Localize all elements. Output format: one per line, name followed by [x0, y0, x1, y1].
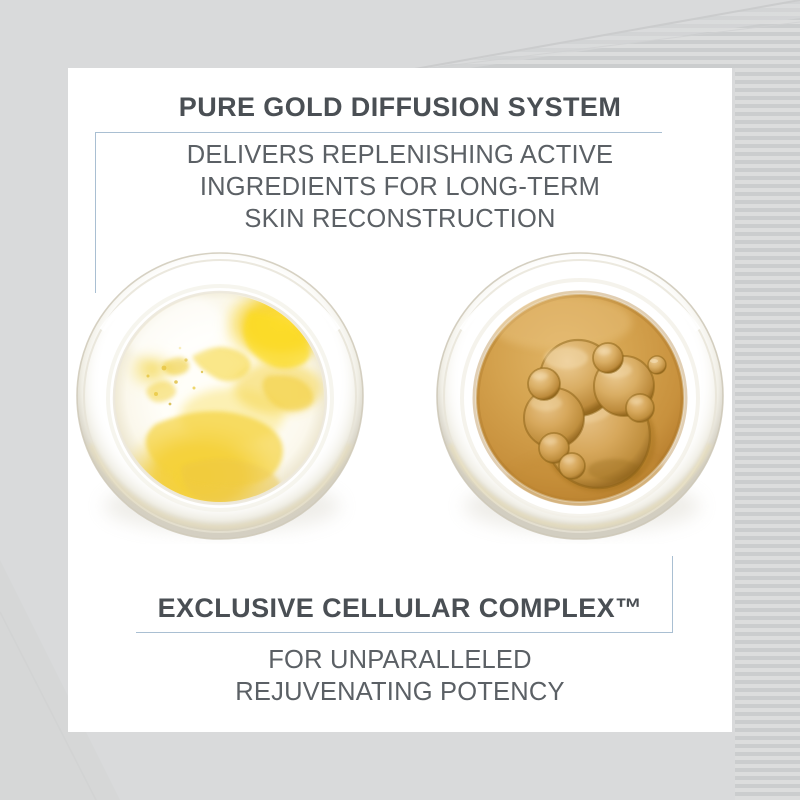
divider-top-horizontal [95, 132, 662, 133]
divider-bottom-vertical [672, 556, 673, 633]
product-card: PURE GOLD DIFFUSION SYSTEM DELIVERS REPL… [68, 68, 732, 732]
top-subtext-line-3: SKIN RECONSTRUCTION [68, 203, 732, 235]
petri-dish-yellow-diffusion [72, 248, 368, 544]
top-subtext-line-1: DELIVERS REPLENISHING ACTIVE [68, 139, 732, 171]
petri-dish-amber-droplet [432, 248, 728, 544]
bottom-subtext-line-1: FOR UNPARALLELED [68, 644, 732, 676]
bottom-subtext: FOR UNPARALLELED REJUVENATING POTENCY [68, 644, 732, 708]
divider-top-vertical [95, 132, 96, 293]
divider-bottom-horizontal [136, 632, 672, 633]
bottom-title: EXCLUSIVE CELLULAR COMPLEX™ [68, 593, 732, 624]
top-subtext-line-2: INGREDIENTS FOR LONG-TERM [68, 171, 732, 203]
top-subtext: DELIVERS REPLENISHING ACTIVE INGREDIENTS… [68, 139, 732, 235]
bottom-subtext-line-2: REJUVENATING POTENCY [68, 676, 732, 708]
top-title: PURE GOLD DIFFUSION SYSTEM [68, 92, 732, 123]
